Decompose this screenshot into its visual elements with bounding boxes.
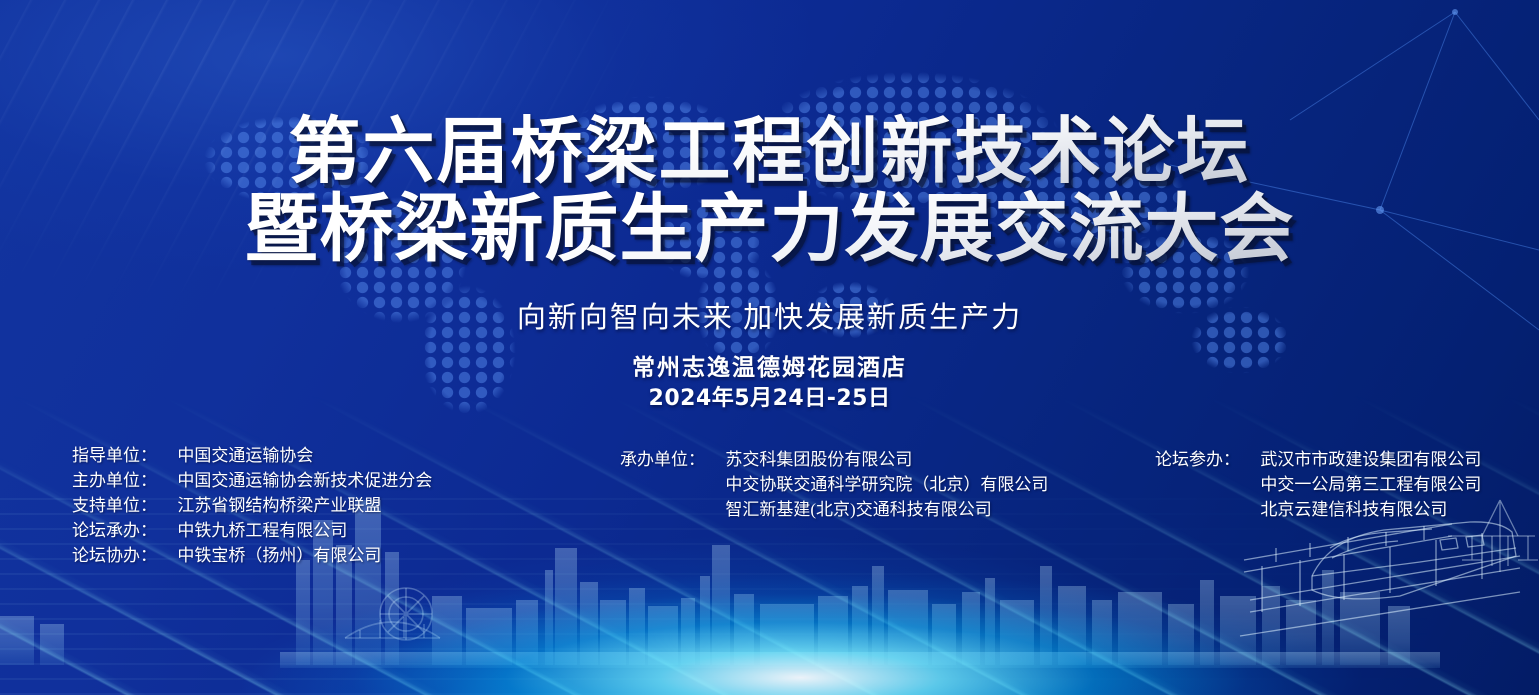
sponsor-label: 论坛参办： bbox=[1155, 447, 1260, 472]
sponsor-label: 承办单位： bbox=[620, 447, 725, 472]
sponsor-value: 中铁宝桥（扬州）有限公司 bbox=[177, 546, 381, 565]
sponsor-value: 北京云建信科技有限公司 bbox=[1260, 500, 1447, 519]
sponsor-label: 主办单位： bbox=[72, 468, 177, 493]
sponsor-column-left: 指导单位：中国交通运输协会主办单位：中国交通运输协会新技术促进分会支持单位：江苏… bbox=[72, 443, 432, 568]
sponsor-row: 主办单位：中国交通运输协会新技术促进分会 bbox=[72, 468, 432, 493]
sponsor-value: 中国交通运输协会新技术促进分会 bbox=[177, 471, 432, 490]
sponsor-value: 中国交通运输协会 bbox=[177, 446, 313, 465]
sponsor-row: 北京云建信科技有限公司 bbox=[1155, 497, 1481, 522]
sponsor-column-right: 论坛参办：武汉市市政建设集团有限公司中交一公局第三工程有限公司北京云建信科技有限… bbox=[1155, 447, 1481, 522]
subtitle: 向新向智向未来 加快发展新质生产力 bbox=[0, 294, 1539, 336]
venue-block: 常州志逸温德姆花园酒店 2024年5月24日-25日 bbox=[0, 352, 1539, 414]
sponsor-label: 指导单位： bbox=[72, 443, 177, 468]
sponsor-value: 智汇新基建(北京)交通科技有限公司 bbox=[725, 500, 991, 519]
network-constellation-lines bbox=[0, 0, 1539, 695]
sponsor-value: 苏交科集团股份有限公司 bbox=[725, 450, 912, 469]
city-skyline-silhouette bbox=[0, 0, 1539, 695]
arch-bridge-icon bbox=[345, 617, 440, 638]
sponsor-columns: 指导单位：中国交通运输协会主办单位：中国交通运输协会新技术促进分会支持单位：江苏… bbox=[0, 443, 1539, 573]
sponsor-row: 中交一公局第三工程有限公司 bbox=[1155, 472, 1481, 497]
sponsor-value: 中交一公局第三工程有限公司 bbox=[1260, 475, 1481, 494]
ferris-wheel-icon bbox=[380, 588, 432, 640]
sponsor-value: 中交协联交通科学研究院（北京）有限公司 bbox=[725, 475, 1048, 494]
sponsor-row: 指导单位：中国交通运输协会 bbox=[72, 443, 432, 468]
venue-name: 常州志逸温德姆花园酒店 bbox=[0, 352, 1539, 383]
sponsor-row: 智汇新基建(北京)交通科技有限公司 bbox=[620, 497, 1048, 522]
sponsor-value: 江苏省钢结构桥梁产业联盟 bbox=[177, 496, 381, 515]
sponsor-row: 论坛承办：中铁九桥工程有限公司 bbox=[72, 518, 432, 543]
sponsor-value: 武汉市市政建设集团有限公司 bbox=[1260, 450, 1481, 469]
title-line-2: 暨桥梁新质生产力发展交流大会 bbox=[0, 190, 1539, 268]
event-date: 2024年5月24日-25日 bbox=[0, 383, 1539, 414]
conference-banner: 第六届桥梁工程创新技术论坛 暨桥梁新质生产力发展交流大会 向新向智向未来 加快发… bbox=[0, 0, 1539, 695]
sponsor-label: 支持单位： bbox=[72, 493, 177, 518]
sponsor-row: 支持单位：江苏省钢结构桥梁产业联盟 bbox=[72, 493, 432, 518]
sponsor-column-middle: 承办单位：苏交科集团股份有限公司中交协联交通科学研究院（北京）有限公司智汇新基建… bbox=[620, 447, 1048, 522]
high-speed-train-line-art bbox=[0, 0, 1539, 695]
sponsor-label: 论坛承办： bbox=[72, 518, 177, 543]
sponsor-value: 中铁九桥工程有限公司 bbox=[177, 521, 347, 540]
diagonal-light-streaks-top bbox=[0, 0, 1539, 695]
sponsor-row: 中交协联交通科学研究院（北京）有限公司 bbox=[620, 472, 1048, 497]
title-line-1: 第六届桥梁工程创新技术论坛 bbox=[0, 112, 1539, 190]
title-block: 第六届桥梁工程创新技术论坛 暨桥梁新质生产力发展交流大会 bbox=[0, 112, 1539, 268]
sponsor-row: 论坛协办：中铁宝桥（扬州）有限公司 bbox=[72, 543, 432, 568]
sponsor-row: 承办单位：苏交科集团股份有限公司 bbox=[620, 447, 1048, 472]
sponsor-label: 论坛协办： bbox=[72, 543, 177, 568]
sponsor-row: 论坛参办：武汉市市政建设集团有限公司 bbox=[1155, 447, 1481, 472]
